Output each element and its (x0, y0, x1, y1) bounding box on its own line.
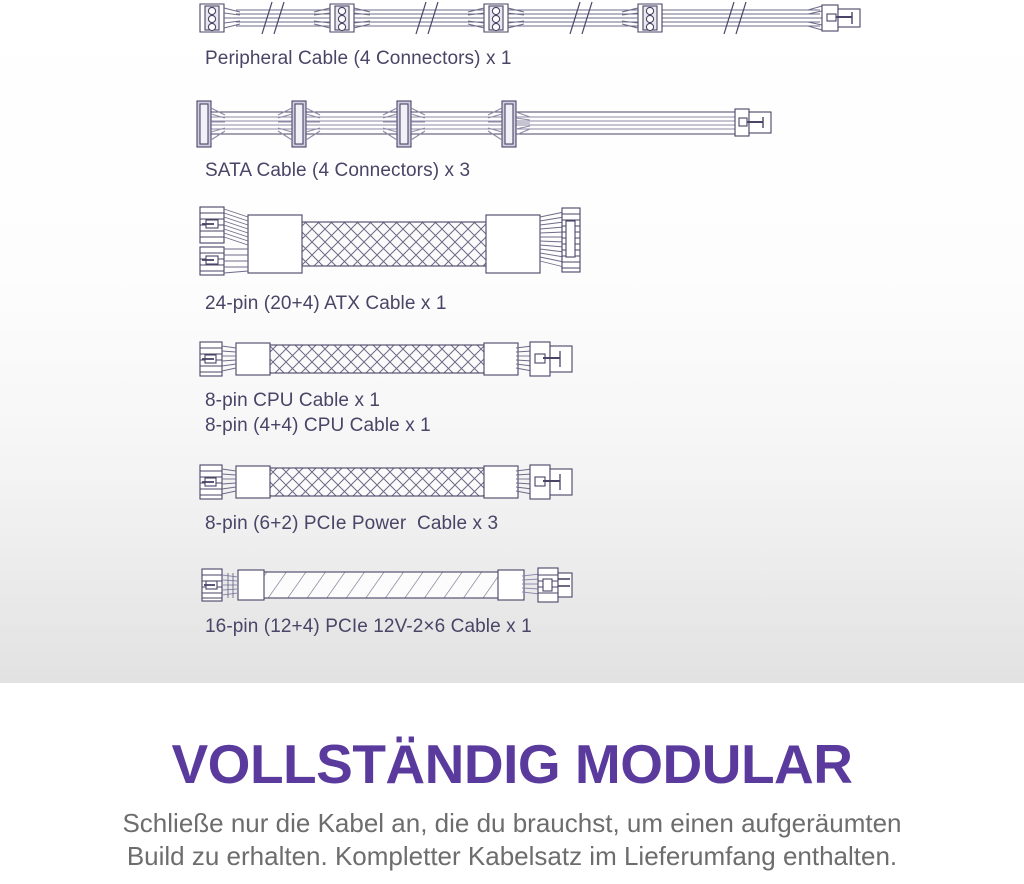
cable-row-peripheral: Peripheral Cable (4 Connectors) x 1 (0, 0, 1024, 85)
promo-body: Schließe nur die Kabel an, die du brauch… (0, 793, 1024, 873)
sata-cable-icon (0, 98, 1024, 153)
cable-row-cpu: 8-pin CPU Cable x 1 8-pin (4+4) CPU Cabl… (0, 336, 1024, 441)
sata-cable-labels: SATA Cable (4 Connectors) x 3 (205, 158, 470, 183)
cable-label: 16-pin (12+4) PCIe 12V-2×6 Cable x 1 (205, 614, 532, 639)
promo-heading: VOLLSTÄNDIG MODULAR (0, 683, 1024, 793)
pcie-16pin-cable-labels: 16-pin (12+4) PCIe 12V-2×6 Cable x 1 (205, 614, 532, 639)
cable-row-sata: SATA Cable (4 Connectors) x 3 (0, 98, 1024, 193)
cable-label: 8-pin (6+2) PCIe Power Cable x 3 (205, 511, 498, 536)
cable-row-atx: 24-pin (20+4) ATX Cable x 1 (0, 203, 1024, 313)
cable-label: 8-pin CPU Cable x 1 (205, 388, 431, 413)
promo-body-line-1: Schließe nur die Kabel an, die du brauch… (0, 807, 1024, 840)
pcie-cable-labels: 8-pin (6+2) PCIe Power Cable x 3 (205, 511, 498, 536)
peripheral-cable-icon (0, 0, 1024, 48)
promo-body-line-2: Build zu erhalten. Kompletter Kabelsatz … (0, 840, 1024, 873)
cable-label: Peripheral Cable (4 Connectors) x 1 (205, 46, 512, 71)
cable-label: 24-pin (20+4) ATX Cable x 1 (205, 291, 447, 316)
atx-cable-icon (0, 203, 1024, 288)
cable-row-pcie-16pin: 16-pin (12+4) PCIe 12V-2×6 Cable x 1 (0, 562, 1024, 657)
cpu-cable-labels: 8-pin CPU Cable x 1 8-pin (4+4) CPU Cabl… (205, 388, 431, 438)
cable-label: SATA Cable (4 Connectors) x 3 (205, 158, 470, 183)
cable-label: 8-pin (4+4) CPU Cable x 1 (205, 413, 431, 438)
atx-cable-labels: 24-pin (20+4) ATX Cable x 1 (205, 291, 447, 316)
cable-set-infographic: Peripheral Cable (4 Connectors) x 1 (0, 0, 1024, 884)
cable-row-pcie: 8-pin (6+2) PCIe Power Cable x 3 (0, 459, 1024, 554)
cable-list-panel: Peripheral Cable (4 Connectors) x 1 (0, 0, 1024, 683)
promo-section: VOLLSTÄNDIG MODULAR Schließe nur die Kab… (0, 683, 1024, 884)
pcie-16pin-cable-icon (0, 562, 1024, 610)
peripheral-cable-labels: Peripheral Cable (4 Connectors) x 1 (205, 46, 512, 71)
cpu-cable-icon (0, 336, 1024, 384)
pcie-cable-icon (0, 459, 1024, 507)
